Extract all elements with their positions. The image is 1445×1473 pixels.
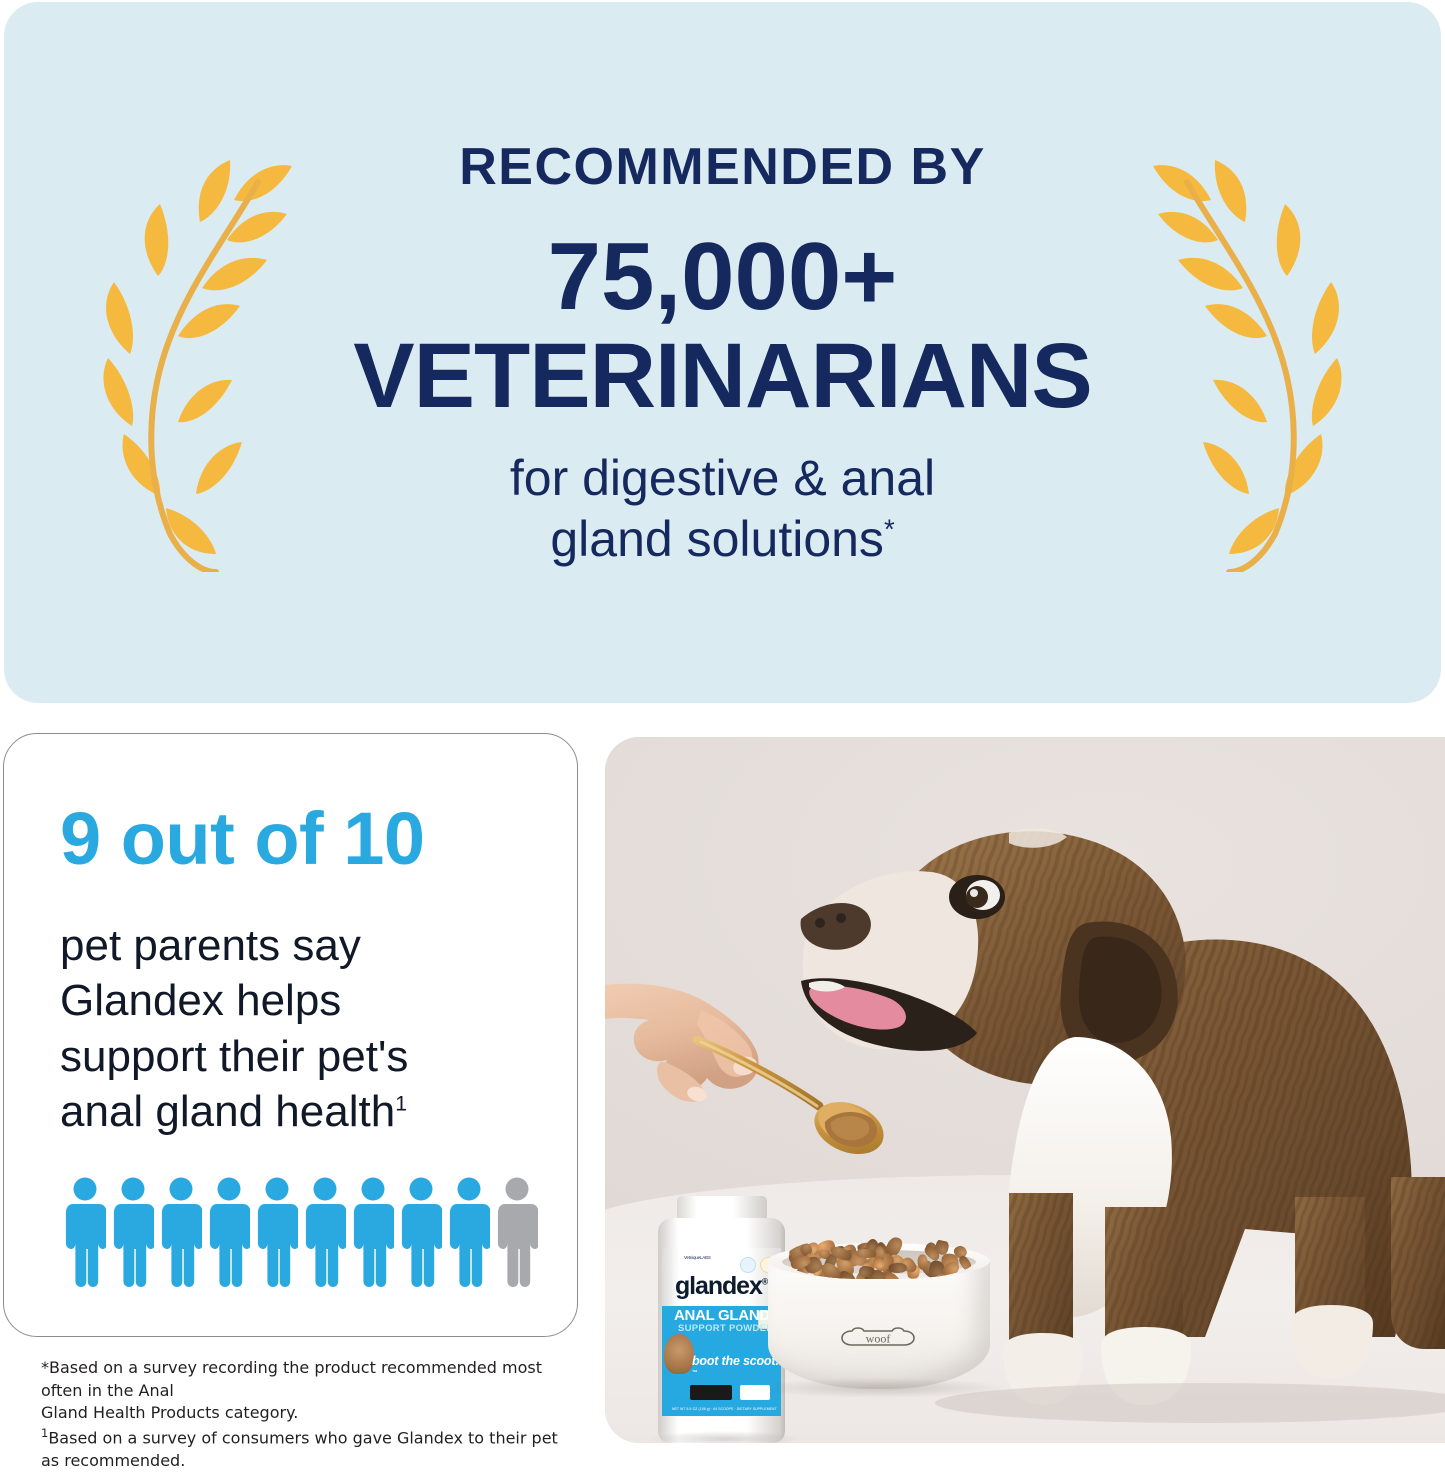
recommended-banner: RECOMMENDED BY 75,000+ VETERINARIANS for… xyxy=(4,2,1441,703)
stat-body: pet parents say Glandex helps support th… xyxy=(60,918,530,1140)
bottle-brand-sup: LABS xyxy=(700,1255,711,1260)
product-lifestyle-photo: VetniqueLABS glandex® ANAL GLAND SUPPORT… xyxy=(605,737,1445,1443)
bottle-flavor-badge xyxy=(690,1385,732,1400)
bottle-product-name-text: glandex xyxy=(675,1272,762,1300)
person-icon-muted xyxy=(496,1177,538,1287)
bowl-engraving: woof xyxy=(866,1332,891,1346)
person-icon-highlighted xyxy=(448,1177,490,1287)
banner-subtitle: for digestive & anal gland solutions* xyxy=(308,448,1138,570)
banner-subtitle-line1: for digestive & anal xyxy=(510,450,935,506)
person-icon-highlighted xyxy=(64,1177,106,1287)
footnote-line-2: Gland Health Products category. xyxy=(41,1402,581,1425)
bottle-shadow xyxy=(650,1431,800,1443)
stat-body-line4: anal gland health xyxy=(60,1087,395,1136)
person-icon-highlighted xyxy=(208,1177,250,1287)
bottle-tagline-sup: ™ xyxy=(692,1370,697,1376)
banner-subtitle-line2: gland solutions xyxy=(550,511,884,567)
pet-parent-stat-card: 9 out of 10 pet parents say Glandex help… xyxy=(3,733,578,1337)
hand-with-spoon-icon xyxy=(605,982,935,1182)
person-icon-highlighted xyxy=(400,1177,442,1287)
footnote-line-3: 1Based on a survey of consumers who gave… xyxy=(41,1425,581,1473)
kibble-piece xyxy=(917,1254,929,1270)
person-icon-highlighted xyxy=(112,1177,154,1287)
dog-food-bowl: woof xyxy=(768,1233,990,1396)
stat-body-line1: pet parents say xyxy=(60,921,361,970)
bottle-category-line1: ANAL GLAND xyxy=(674,1307,770,1324)
bottle-product-name: glandex® xyxy=(675,1272,767,1301)
glandex-bottle: VetniqueLABS glandex® ANAL GLAND SUPPORT… xyxy=(658,1196,785,1443)
kibble-piece xyxy=(889,1262,907,1273)
bottle-fine-print: NET WT 5.5 OZ (156 g) · 64 SCOOPS · DIET… xyxy=(672,1407,777,1411)
banner-eyebrow: RECOMMENDED BY xyxy=(308,141,1138,193)
stat-body-line3: support their pet's xyxy=(60,1032,408,1081)
footnote-line-1: *Based on a survey recording the product… xyxy=(41,1357,581,1402)
footnote-line-3-text: Based on a survey of consumers who gave … xyxy=(41,1428,558,1470)
banner-subtitle-marker: * xyxy=(884,513,895,544)
bottle-dog-photo-icon xyxy=(664,1334,694,1374)
people-pictogram xyxy=(64,1177,538,1287)
stat-body-line2: Glandex helps xyxy=(60,976,341,1025)
bottle-brand: VetniqueLABS xyxy=(684,1255,711,1265)
bone-icon: woof xyxy=(840,1325,916,1351)
banner-stat-number: 75,000+ xyxy=(308,231,1138,323)
stat-card-content: 9 out of 10 pet parents say Glandex help… xyxy=(60,802,541,1140)
person-icon-highlighted xyxy=(160,1177,202,1287)
stat-headline: 9 out of 10 xyxy=(60,802,541,876)
bottle-seal-icon xyxy=(740,1257,756,1273)
bottle-tagline-text: boot the scoot! xyxy=(692,1354,779,1368)
bottle-brand-text: Vetnique xyxy=(684,1255,700,1260)
bowl-shadow xyxy=(754,1378,1006,1398)
bottle-category-line2: SUPPORT POWDER xyxy=(678,1323,774,1334)
footnotes: *Based on a survey recording the product… xyxy=(41,1357,581,1473)
person-icon-highlighted xyxy=(304,1177,346,1287)
person-icon-highlighted xyxy=(256,1177,298,1287)
stat-body-marker: 1 xyxy=(395,1093,407,1116)
kibble-pile xyxy=(786,1235,974,1279)
bottle-body: VetniqueLABS glandex® ANAL GLAND SUPPORT… xyxy=(658,1218,785,1443)
person-icon-highlighted xyxy=(352,1177,394,1287)
kibble-piece xyxy=(856,1249,876,1258)
bottle-product-name-sup: ® xyxy=(762,1277,767,1287)
banner-stat-label: VETERINARIANS xyxy=(308,330,1138,422)
banner-headline-block: RECOMMENDED BY 75,000+ VETERINARIANS for… xyxy=(308,141,1138,569)
